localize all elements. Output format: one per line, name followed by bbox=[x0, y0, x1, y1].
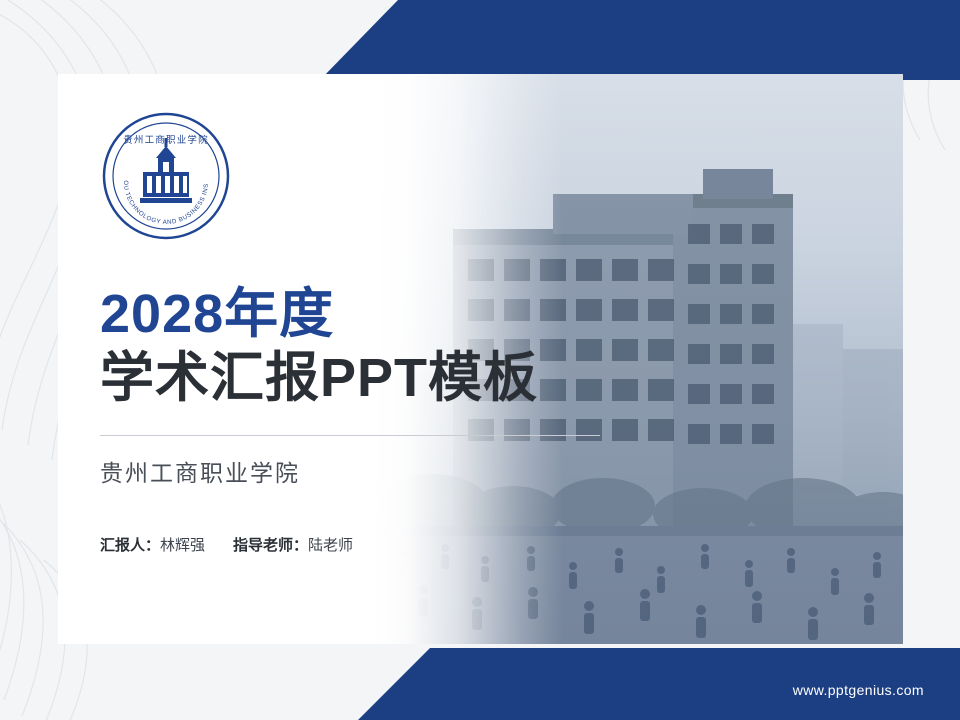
advisor-label: 指导老师： bbox=[233, 537, 308, 554]
presenter-label: 汇报人： bbox=[100, 537, 160, 554]
school-name: 贵州工商职业学院 bbox=[100, 454, 600, 488]
title-year: 2028年度 bbox=[100, 284, 600, 344]
presentation-slide: 贵州工商职业学院 GUIZHOU TECHNOLOGY AND BUSINESS… bbox=[0, 0, 960, 720]
school-logo: 贵州工商职业学院 GUIZHOU TECHNOLOGY AND BUSINESS… bbox=[100, 110, 232, 242]
footer-website-url[interactable]: www.pptgenius.com bbox=[793, 682, 924, 698]
title-main: 学术汇报PPT模板 bbox=[100, 348, 600, 408]
presenter-value: 林辉强 bbox=[160, 537, 205, 554]
logo-chinese-text: 贵州工商职业学院 bbox=[123, 134, 209, 146]
meta-row: 汇报人：林辉强指导老师：陆老师 bbox=[100, 534, 600, 555]
advisor-value: 陆老师 bbox=[308, 537, 353, 554]
top-right-blue-banner bbox=[320, 0, 960, 80]
title-divider bbox=[100, 435, 600, 436]
title-text-block: 2028年度 学术汇报PPT模板 贵州工商职业学院 汇报人：林辉强指导老师：陆老… bbox=[100, 284, 600, 555]
content-card: 贵州工商职业学院 GUIZHOU TECHNOLOGY AND BUSINESS… bbox=[58, 74, 903, 644]
